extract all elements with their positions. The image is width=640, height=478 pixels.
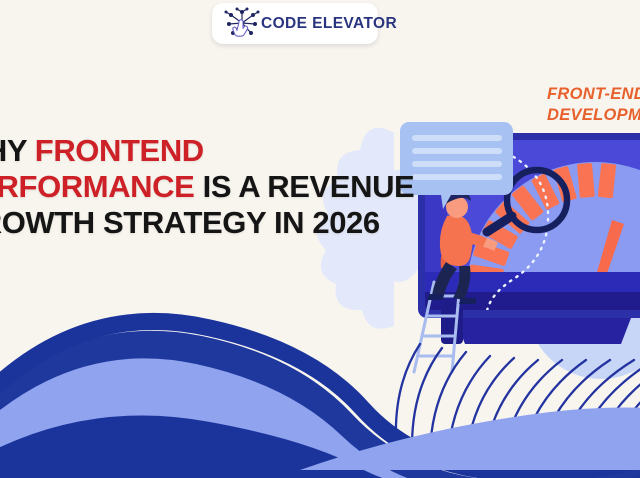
- eyebrow-line-1: FRONT-END: [547, 84, 640, 105]
- poster-canvas: CODE ELEVATOR WHY FRONTEND PERFORMANCE I…: [0, 0, 640, 478]
- headline-seg-frontend: FRONTEND: [35, 133, 204, 168]
- headline-line-3: GROWTH STRATEGY IN 2026: [0, 205, 376, 241]
- headline-seg-why: WHY: [0, 133, 35, 168]
- headline-seg-revenue: IS A REVENUE: [194, 169, 414, 204]
- headline-line-1: WHY FRONTEND: [0, 133, 376, 169]
- headline-seg-performance: PERFORMANCE: [0, 169, 194, 204]
- headline: WHY FRONTEND PERFORMANCE IS A REVENUE GR…: [0, 133, 376, 241]
- headline-line-2: PERFORMANCE IS A REVENUE: [0, 169, 376, 205]
- logo-badge[interactable]: CODE ELEVATOR: [212, 3, 378, 44]
- logo-text: CODE ELEVATOR: [261, 15, 397, 33]
- eyebrow-label: FRONT-END DEVELOPMENT: [547, 84, 640, 126]
- eyebrow-line-2: DEVELOPMENT: [547, 105, 640, 126]
- headline-seg-growth: GROWTH STRATEGY IN 2026: [0, 205, 380, 240]
- network-nodes-cursor-icon: [222, 7, 262, 41]
